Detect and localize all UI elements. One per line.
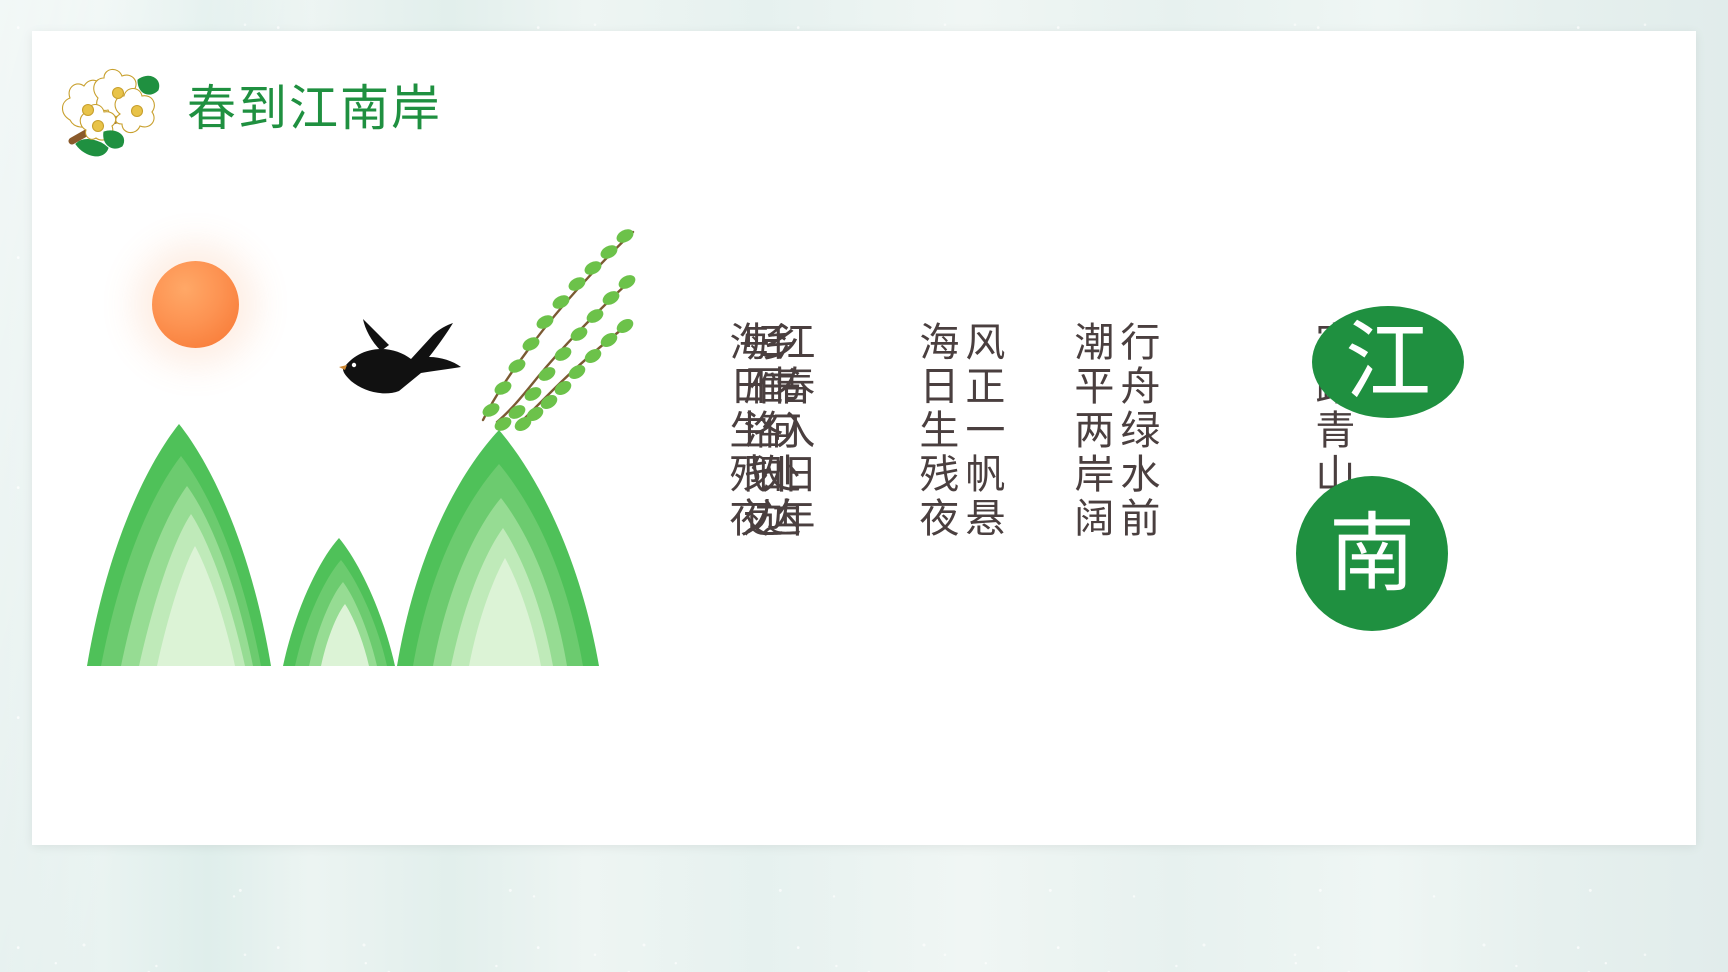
poem-column-front: 风正一帆悬 bbox=[958, 321, 1004, 541]
seal-circle-nan: 南 bbox=[1296, 476, 1448, 631]
page-title: 春到江南岸 bbox=[187, 85, 442, 134]
seal-char-jiang: 江 bbox=[1345, 319, 1431, 405]
poem-column-front: 行舟绿水前 bbox=[1113, 321, 1159, 541]
scenery-illustration bbox=[87, 216, 627, 686]
seal-char-nan: 南 bbox=[1329, 511, 1415, 597]
slide-header: 春到江南岸 bbox=[32, 31, 1696, 171]
willow-branch-icon bbox=[397, 226, 637, 446]
seal-stamp-group: 江 南 bbox=[1288, 306, 1448, 636]
slide-card: 春到江南岸 bbox=[32, 31, 1696, 845]
poem-column-front: 江春入旧年 bbox=[768, 321, 814, 541]
poem-column-behind: 海日生残夜 bbox=[912, 321, 958, 541]
seal-circle-jiang: 江 bbox=[1312, 306, 1464, 418]
poem-column-behind: 潮平两岸阔 bbox=[1067, 321, 1113, 541]
pear-blossom-icon bbox=[42, 36, 177, 166]
